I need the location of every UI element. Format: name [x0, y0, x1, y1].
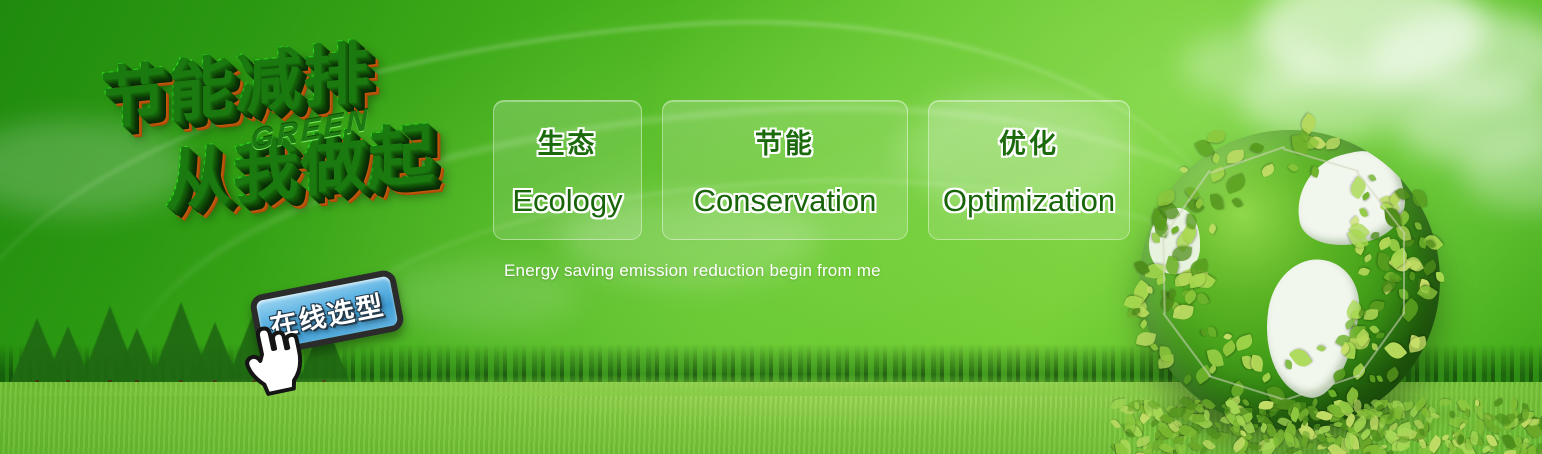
cloud-icon [1255, 0, 1485, 90]
feature-card-optimization[interactable]: 优化 Optimization [928, 100, 1130, 240]
feature-card-en-label: Conservation [694, 183, 877, 219]
cloud-icon [1370, 10, 1542, 105]
green-energy-banner: 节能减排 从我做起 GREEN 在线选型 生态 Ecology 节能 Conse… [0, 0, 1542, 454]
banner-subtitle: Energy saving emission reduction begin f… [504, 261, 881, 281]
cloud-icon [1460, 140, 1542, 210]
cloud-icon [1240, 60, 1410, 140]
fallen-leaf-litter [1110, 378, 1542, 454]
continent-north-america [1288, 144, 1412, 254]
feature-card-row: 生态 Ecology 节能 Conservation 优化 Optimizati… [493, 100, 1130, 240]
cloud-icon [1180, 30, 1330, 100]
feature-card-conservation[interactable]: 节能 Conservation [662, 100, 908, 240]
energy-saving-3d-logo: 节能减排 从我做起 GREEN [85, 18, 497, 288]
feature-card-ecology[interactable]: 生态 Ecology [493, 100, 642, 240]
feature-card-cn-label: 节能 [755, 122, 815, 161]
feature-card-en-label: Optimization [943, 183, 1115, 219]
feature-card-cn-label: 优化 [999, 122, 1059, 161]
online-selection-label: 在线选型 [266, 283, 387, 343]
feature-card-cn-label: 生态 [538, 122, 598, 161]
feature-card-en-label: Ecology [512, 183, 622, 219]
continent-greenland [1149, 208, 1200, 274]
